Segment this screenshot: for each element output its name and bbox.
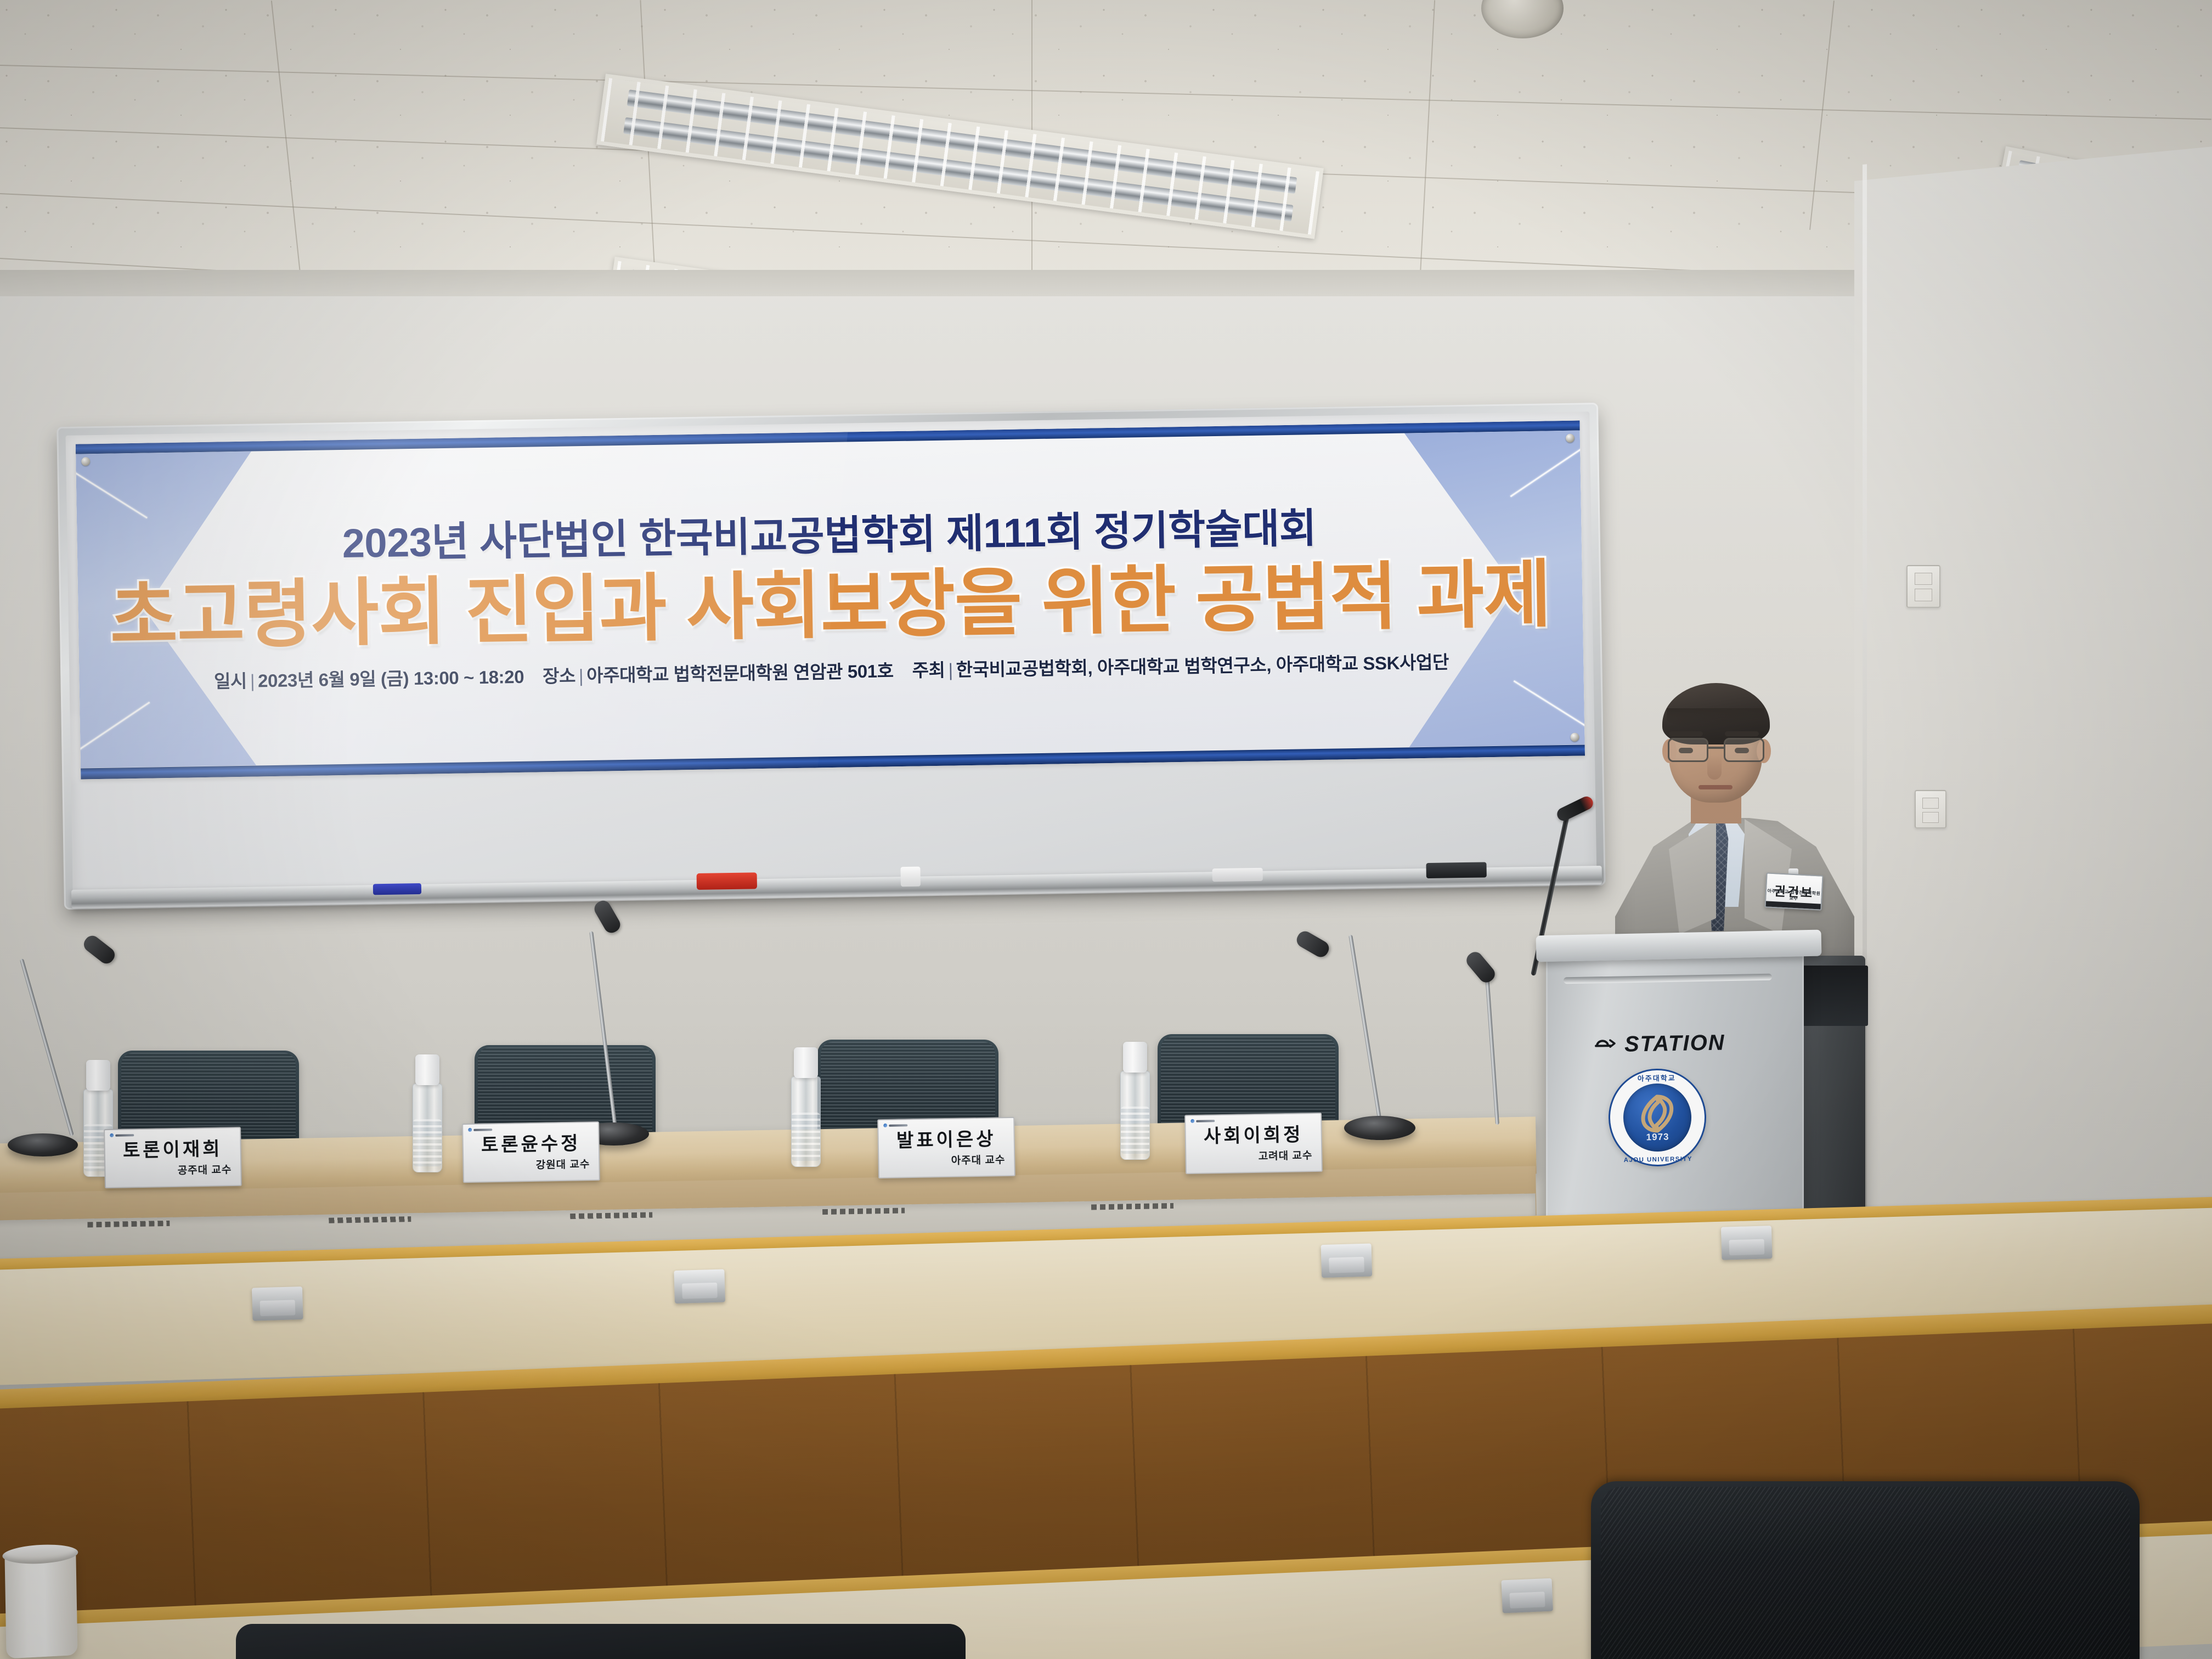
mouth bbox=[1699, 785, 1733, 789]
banner-text-block: 2023년 사단법인 한국비교공법학회 제111회 정기학술대회 초고령사회 진… bbox=[76, 431, 1585, 769]
nameplate-logo-icon bbox=[110, 1133, 134, 1137]
banner-screw bbox=[1570, 732, 1579, 741]
seal-inner-disc: 1973 bbox=[1623, 1083, 1692, 1152]
bottle-cap bbox=[415, 1054, 439, 1085]
nameplate-role-name: 토론이재희 bbox=[111, 1139, 234, 1161]
badge-subtitle: 아주대학교 법학전문대학원 교수 bbox=[1766, 888, 1821, 902]
desk-power-port[interactable] bbox=[1721, 1226, 1773, 1260]
e-station-text: STATION bbox=[1624, 1030, 1725, 1057]
podium-brand-label: STATION bbox=[1594, 1030, 1759, 1057]
banner-sep: | bbox=[575, 665, 587, 686]
right-wall bbox=[1854, 146, 2212, 1278]
eyebrow bbox=[1725, 731, 1759, 736]
desk-power-port[interactable] bbox=[1321, 1244, 1373, 1278]
conference-hall-photo: 2023년 사단법인 한국비교공법학회 제111회 정기학술대회 초고령사회 진… bbox=[0, 0, 2212, 1659]
conference-banner: 2023년 사단법인 한국비교공법학회 제111회 정기학술대회 초고령사회 진… bbox=[76, 421, 1585, 780]
bottle-cap bbox=[794, 1047, 818, 1078]
eyebrow bbox=[1669, 731, 1703, 736]
red-eraser-icon[interactable] bbox=[697, 872, 757, 890]
banner-datetime-label: 일시 bbox=[214, 671, 247, 692]
nameplate-role-name: 사회이희정 bbox=[1192, 1125, 1314, 1147]
blue-marker-icon[interactable] bbox=[373, 883, 421, 895]
e-station-logo-icon bbox=[1594, 1035, 1620, 1054]
nameplate-role-name: 토론윤수정 bbox=[470, 1133, 592, 1156]
water-bottle[interactable] bbox=[791, 1076, 821, 1167]
desk-power-port[interactable] bbox=[674, 1269, 725, 1304]
nameplate-logo-icon bbox=[1190, 1119, 1215, 1123]
banner-host-label: 주최 bbox=[912, 660, 945, 681]
microphone-base[interactable] bbox=[8, 1133, 78, 1156]
banner-sep: | bbox=[247, 671, 258, 691]
seal-korean-text: 아주대학교 bbox=[1610, 1072, 1704, 1084]
banner-title: 초고령사회 진입과 사회보장을 위한 공법적 과제 bbox=[109, 558, 1551, 654]
foreground-chair[interactable] bbox=[236, 1624, 966, 1659]
seal-year: 1973 bbox=[1623, 1131, 1691, 1143]
microphone-base[interactable] bbox=[1344, 1116, 1415, 1140]
desk-power-port[interactable] bbox=[252, 1286, 303, 1321]
wall-outlet-plate[interactable] bbox=[1915, 790, 1946, 828]
nameplate: 발표이은상 아주대 교수 bbox=[877, 1117, 1015, 1178]
white-marker-icon[interactable] bbox=[1212, 868, 1263, 882]
banner-subtitle: 2023년 사단법인 한국비교공법학회 제111회 정기학술대회 bbox=[342, 507, 1317, 566]
nameplate-role-name: 발표이은상 bbox=[885, 1129, 1007, 1152]
bottle-cap bbox=[86, 1060, 110, 1091]
banner-footer: 일시|2023년 6월 9일 (금) 13:00 ~ 18:20장소|아주대학교… bbox=[214, 647, 1449, 693]
nameplate-affiliation: 고려대 교수 bbox=[1193, 1147, 1314, 1164]
speaker-name-badge: 권건보 아주대학교 법학전문대학원 교수 bbox=[1764, 872, 1823, 910]
whiteboard-with-banner: 2023년 사단법인 한국비교공법학회 제111회 정기학술대회 초고령사회 진… bbox=[57, 403, 1605, 910]
nose bbox=[1707, 755, 1722, 780]
nameplate: 토론윤수정 강원대 교수 bbox=[462, 1121, 600, 1183]
nameplate: 토론이재희 공주대 교수 bbox=[104, 1127, 242, 1188]
bottle-cap bbox=[1123, 1042, 1147, 1073]
paper-cup[interactable] bbox=[4, 1551, 77, 1659]
whiteboard-surface: 2023년 사단법인 한국비교공법학회 제111회 정기학술대회 초고령사회 진… bbox=[66, 411, 1597, 901]
water-bottle[interactable] bbox=[413, 1084, 442, 1172]
light-switch-plate[interactable] bbox=[1906, 565, 1940, 608]
podium-shelf bbox=[1802, 966, 1868, 1026]
banner-sep: | bbox=[945, 660, 956, 680]
banner-datetime-value: 2023년 6월 9일 (금) 13:00 ~ 18:20 bbox=[258, 667, 524, 691]
banner-place-value: 아주대학교 법학전문대학원 연암관 501호 bbox=[586, 661, 894, 686]
nameplate-logo-icon bbox=[883, 1123, 907, 1127]
water-bottle[interactable] bbox=[1120, 1071, 1150, 1160]
black-eraser-icon[interactable] bbox=[1426, 862, 1486, 878]
desk-power-port[interactable] bbox=[1501, 1578, 1553, 1613]
foreground-chair[interactable] bbox=[1591, 1481, 2140, 1659]
nameplate-logo-icon bbox=[468, 1127, 492, 1132]
nameplate-affiliation: 강원대 교수 bbox=[470, 1156, 592, 1173]
banner-host-value: 한국비교공법학회, 아주대학교 법학연구소, 아주대학교 SSK사업단 bbox=[956, 652, 1449, 680]
seal-monogram-icon bbox=[1636, 1094, 1678, 1133]
nameplate-affiliation: 공주대 교수 bbox=[112, 1161, 234, 1178]
nameplate: 사회이희정 고려대 교수 bbox=[1184, 1113, 1323, 1174]
white-marker-icon[interactable] bbox=[900, 867, 921, 887]
banner-place-label: 장소 bbox=[543, 665, 575, 686]
nameplate-affiliation: 아주대 교수 bbox=[885, 1152, 1007, 1169]
